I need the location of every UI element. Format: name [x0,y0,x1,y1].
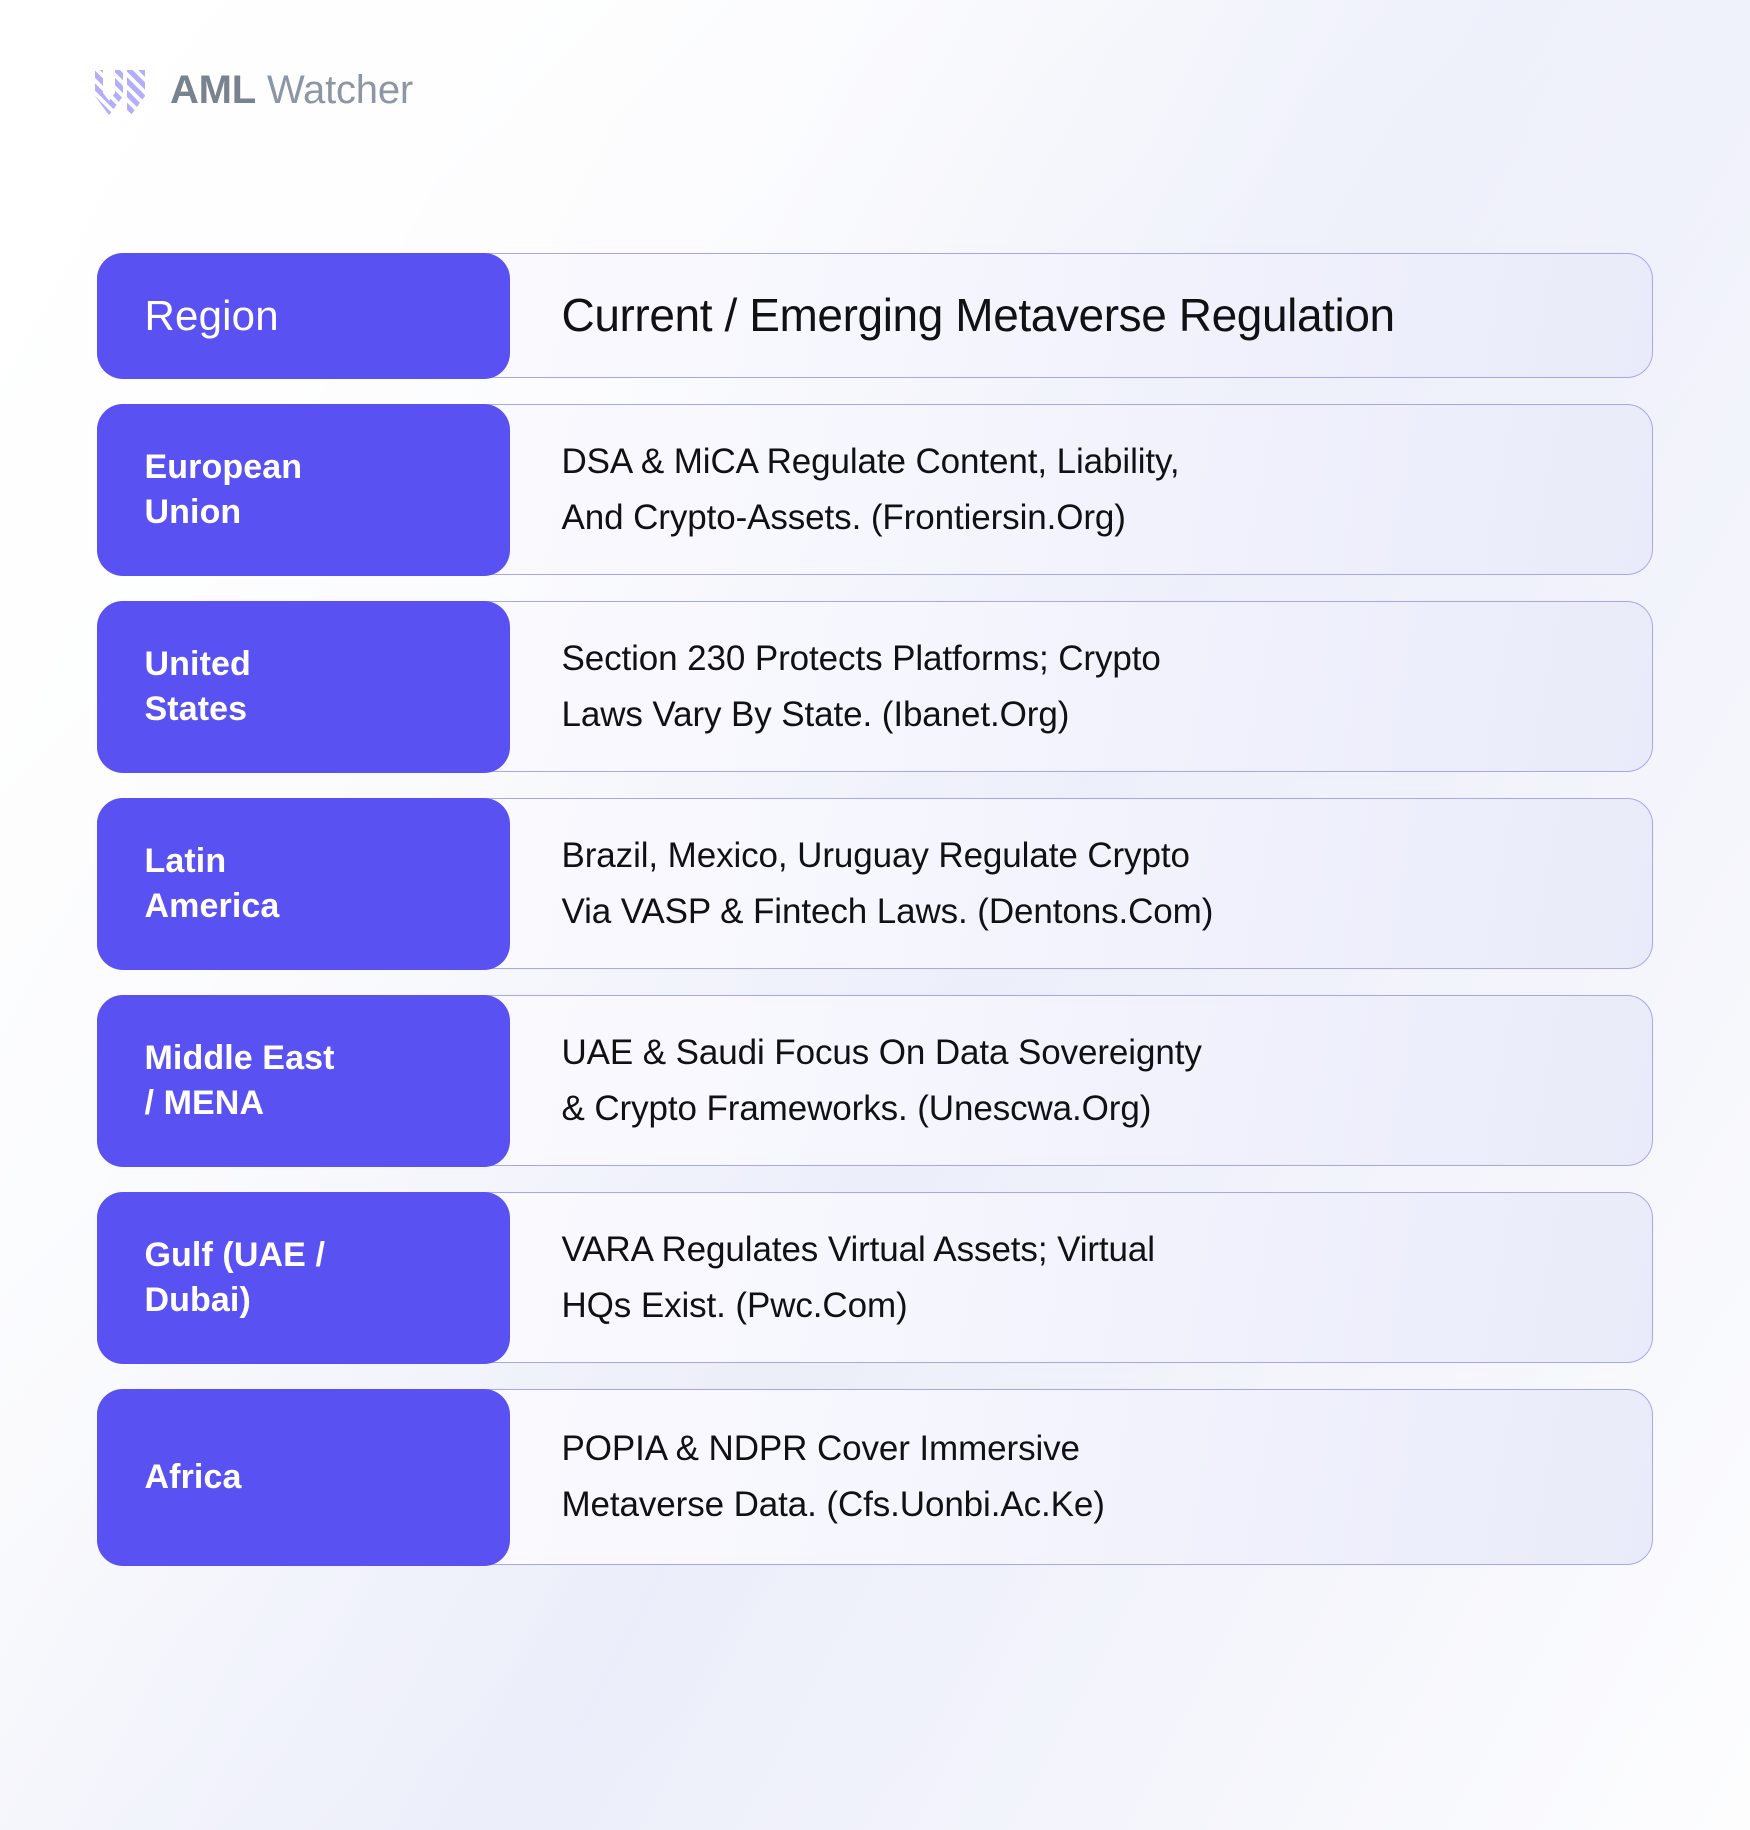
region-label: United States [145,642,251,732]
table-row: Middle East / MENA UAE & Saudi Focus On … [97,995,1653,1166]
region-label: Latin America [145,839,280,929]
regulation-cell-middle-east-mena: UAE & Saudi Focus On Data Sovereignty & … [510,996,1653,1165]
regulation-cell-united-states: Section 230 Protects Platforms; Crypto L… [510,602,1653,771]
aml-watcher-logo-icon [92,62,148,118]
regulation-cell-european-union: DSA & MiCA Regulate Content, Liability, … [510,405,1653,574]
regulation-cell-africa: POPIA & NDPR Cover Immersive Metaverse D… [510,1390,1653,1564]
regulation-table: Region Current / Emerging Metaverse Regu… [97,253,1653,1565]
regulation-text: POPIA & NDPR Cover Immersive Metaverse D… [562,1421,1105,1533]
table-header-row: Region Current / Emerging Metaverse Regu… [97,253,1653,378]
region-cell-middle-east-mena: Middle East / MENA [97,995,510,1167]
header-regulation-label: Current / Emerging Metaverse Regulation [562,279,1395,353]
region-cell-africa: Africa [97,1389,510,1566]
region-cell-gulf-uae-dubai: Gulf (UAE / Dubai) [97,1192,510,1364]
brand-name: AML Watcher [170,68,413,113]
region-label: Africa [145,1455,242,1500]
header-region-cell: Region [97,253,510,379]
region-label: European Union [145,445,303,535]
header-regulation-cell: Current / Emerging Metaverse Regulation [510,254,1653,377]
table-row: United States Section 230 Protects Platf… [97,601,1653,772]
header-region-label: Region [145,288,279,343]
table-row: European Union DSA & MiCA Regulate Conte… [97,404,1653,575]
region-cell-european-union: European Union [97,404,510,576]
regulation-cell-latin-america: Brazil, Mexico, Uruguay Regulate Crypto … [510,799,1653,968]
region-cell-united-states: United States [97,601,510,773]
table-row: Africa POPIA & NDPR Cover Immersive Meta… [97,1389,1653,1565]
table-row: Latin America Brazil, Mexico, Uruguay Re… [97,798,1653,969]
region-cell-latin-america: Latin America [97,798,510,970]
regulation-text: VARA Regulates Virtual Assets; Virtual H… [562,1222,1155,1334]
brand-logo: AML Watcher [92,62,413,118]
regulation-cell-gulf-uae-dubai: VARA Regulates Virtual Assets; Virtual H… [510,1193,1653,1362]
regulation-text: Section 230 Protects Platforms; Crypto L… [562,631,1161,743]
regulation-text: DSA & MiCA Regulate Content, Liability, … [562,434,1180,546]
brand-name-light: Watcher [256,68,413,112]
brand-name-bold: AML [170,68,256,112]
regulation-text: UAE & Saudi Focus On Data Sovereignty & … [562,1025,1202,1137]
region-label: Gulf (UAE / Dubai) [145,1233,326,1323]
table-row: Gulf (UAE / Dubai) VARA Regulates Virtua… [97,1192,1653,1363]
regulation-text: Brazil, Mexico, Uruguay Regulate Crypto … [562,828,1214,940]
region-label: Middle East / MENA [145,1036,335,1126]
